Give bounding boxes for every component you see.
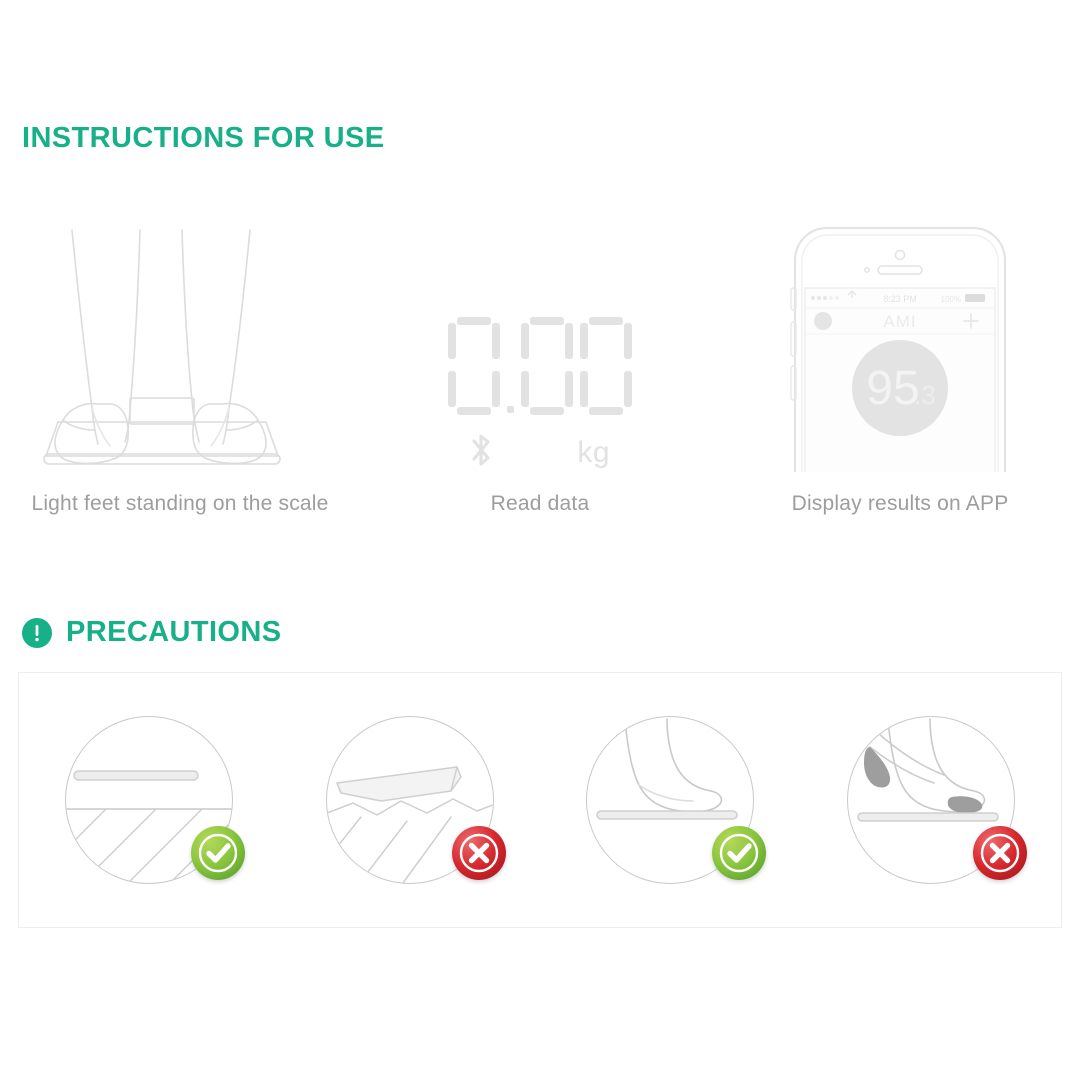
seven-segment-display: 0.00 kg [448,210,632,472]
instruction-step-2: 0.00 kg Read data [360,210,720,540]
svg-text:95: 95 [866,362,919,415]
bare-foot-on-scale [586,716,754,884]
lcd-digit-3 [580,317,632,415]
lcd-decimal-point [507,406,514,413]
precautions-item-row [19,673,1061,927]
instruction-step-2-caption: Read data [491,492,590,516]
sock-foot-on-scale [847,716,1015,884]
precaution-item-1 [19,673,280,927]
scale-on-hard-flat-floor [65,716,233,884]
instruction-step-1: Light feet standing on the scale [0,210,360,540]
svg-text:AMI: AMI [883,312,916,331]
cross-icon [973,826,1027,880]
bluetooth-icon [470,433,492,472]
svg-text:100%: 100% [941,295,961,304]
precautions-panel [18,672,1062,928]
lcd-panel: 0.00 kg [448,317,632,472]
lcd-digit-2 [521,317,573,415]
lcd-digits [448,317,632,415]
instruction-step-1-caption: Light feet standing on the scale [31,492,328,516]
smartphone-illustration: 8:23 PM 100% AMI 95 .3 [775,210,1025,472]
instructions-heading-text: INSTRUCTIONS FOR USE [22,122,384,155]
check-icon [191,826,245,880]
precaution-item-3 [540,673,801,927]
cross-icon [452,826,506,880]
lcd-footer: kg [448,433,632,472]
svg-text:.3: .3 [914,380,936,410]
instructions-heading: INSTRUCTIONS FOR USE [22,122,384,155]
svg-text:8:23 PM: 8:23 PM [883,294,917,304]
exclamation-icon [22,618,52,648]
precaution-item-4 [801,673,1062,927]
lcd-digit-1 [448,317,500,415]
legs-on-scale-illustration [30,210,330,472]
scale-on-uneven-soft-floor [326,716,494,884]
lcd-unit-label: kg [577,436,610,470]
instruction-step-3-caption: Display results on APP [792,492,1009,516]
precautions-heading: PRECAUTIONS [22,616,281,649]
instruction-step-3: 8:23 PM 100% AMI 95 .3 Display results o… [720,210,1080,540]
precaution-item-2 [280,673,541,927]
instructions-step-row: Light feet standing on the scale [0,210,1080,540]
precautions-heading-text: PRECAUTIONS [66,616,281,649]
check-icon [712,826,766,880]
